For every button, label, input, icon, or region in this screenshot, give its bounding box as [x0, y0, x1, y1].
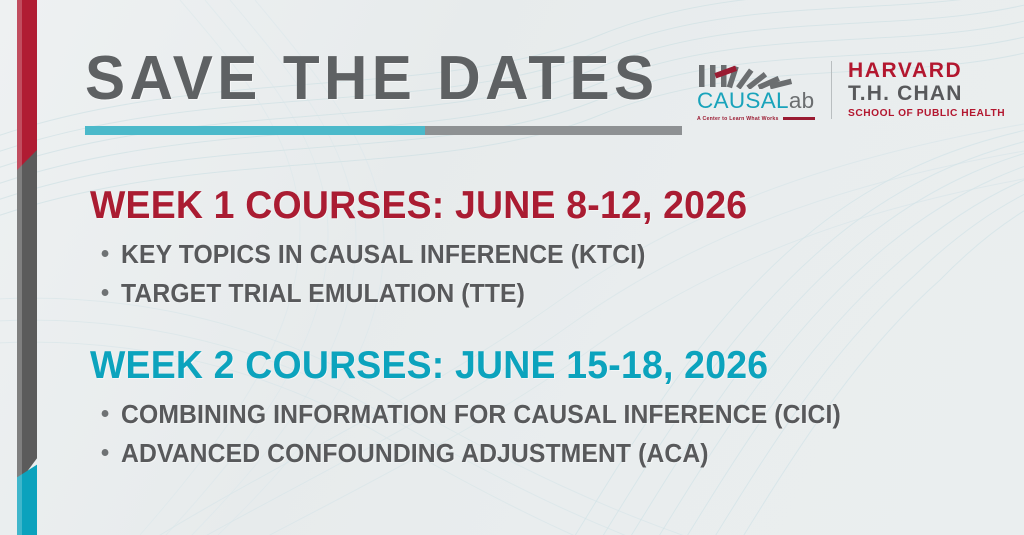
course-label: KEY TOPICS IN CAUSAL INFERENCE (KTCI) — [121, 236, 645, 275]
week-2-heading: WEEK 2 COURSES: JUNE 15-18, 2026 — [90, 346, 833, 387]
page-title: SAVE THE DATES — [85, 48, 664, 110]
title-underline — [85, 126, 682, 135]
week-1-block: WEEK 1 COURSES: JUNE 8-12, 2026 KEY TOPI… — [90, 186, 775, 313]
title-underline-teal — [85, 126, 425, 135]
logo-divider — [831, 61, 832, 119]
causalab-word-secondary: ab — [789, 88, 815, 113]
title-underline-gray — [425, 126, 682, 135]
week-1-heading: WEEK 1 COURSES: JUNE 8-12, 2026 — [90, 186, 747, 227]
course-label: ADVANCED CONFOUNDING ADJUSTMENT (ACA) — [121, 435, 709, 474]
accent-bar-highlight — [17, 0, 22, 535]
causalab-logo: CAUSALab A Center to Learn What Works — [697, 59, 815, 122]
poster-canvas: SAVE THE DATES CAUSALa — [0, 0, 1024, 535]
week-2-block: WEEK 2 COURSES: JUNE 15-18, 2026 COMBINI… — [90, 346, 864, 473]
course-label: TARGET TRIAL EMULATION (TTE) — [121, 275, 525, 314]
list-item: COMBINING INFORMATION FOR CAUSAL INFEREN… — [90, 396, 841, 435]
week-2-course-list: COMBINING INFORMATION FOR CAUSAL INFEREN… — [90, 396, 864, 474]
harvard-chan-logo: HARVARD T.H. CHAN SCHOOL OF PUBLIC HEALT… — [848, 60, 1005, 121]
harvard-wordmark-line3: SCHOOL OF PUBLIC HEALTH — [848, 107, 1005, 121]
logo-lockup: CAUSALab A Center to Learn What Works HA… — [697, 59, 1005, 122]
causalab-word-primary: CAUSAL — [697, 88, 789, 113]
list-item: ADVANCED CONFOUNDING ADJUSTMENT (ACA) — [90, 435, 841, 474]
harvard-wordmark-line2: T.H. CHAN — [848, 82, 1005, 106]
bullet-icon — [102, 250, 109, 257]
left-accent-bar — [17, 0, 37, 535]
list-item: KEY TOPICS IN CAUSAL INFERENCE (KTCI) — [90, 236, 754, 275]
harvard-wordmark-line1: HARVARD — [848, 60, 1005, 82]
causalab-tagline-rule — [783, 117, 815, 120]
bullet-icon — [102, 449, 109, 456]
causalab-wordmark: CAUSALab — [697, 90, 815, 113]
title-block: SAVE THE DATES — [85, 48, 682, 135]
causalab-tagline-row: A Center to Learn What Works — [697, 116, 815, 122]
course-label: COMBINING INFORMATION FOR CAUSAL INFEREN… — [121, 396, 841, 435]
falling-dominoes-icon — [697, 59, 815, 89]
list-item: TARGET TRIAL EMULATION (TTE) — [90, 275, 754, 314]
bullet-icon — [102, 410, 109, 417]
bullet-icon — [102, 289, 109, 296]
week-1-course-list: KEY TOPICS IN CAUSAL INFERENCE (KTCI) TA… — [90, 236, 775, 314]
causalab-tagline: A Center to Learn What Works — [697, 116, 779, 122]
